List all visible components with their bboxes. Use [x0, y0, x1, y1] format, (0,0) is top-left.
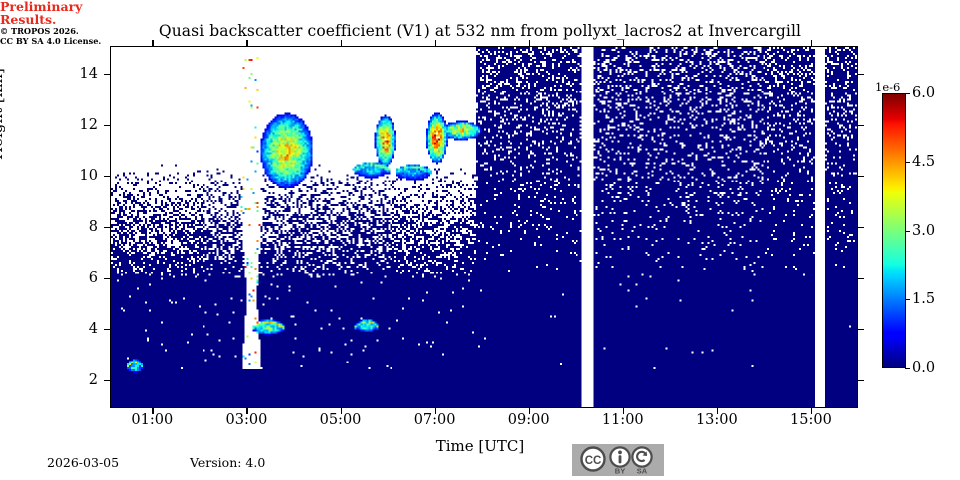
colorbar-tick-label: 6.0: [912, 85, 935, 101]
y-tick-label: 14: [58, 66, 98, 82]
y-tick-mark: [104, 227, 110, 228]
x-tick-mark-top: [152, 40, 153, 46]
y-axis-label: Height [km]: [0, 68, 6, 160]
colorbar-exponent-label: 1e-6: [875, 80, 900, 94]
x-tick-mark-top: [529, 40, 530, 46]
x-tick-mark-top: [717, 40, 718, 46]
x-tick-mark-top: [341, 40, 342, 46]
y-tick-mark: [104, 380, 110, 381]
colorbar[interactable]: [882, 93, 906, 368]
heatmap-plot-area[interactable]: [110, 46, 858, 408]
x-tick-mark-top: [435, 40, 436, 46]
x-tick-label: 07:00: [400, 412, 470, 428]
x-tick-label: 09:00: [494, 412, 564, 428]
colorbar-tick-label: 3.0: [912, 223, 935, 239]
y-tick-label: 2: [58, 372, 98, 388]
y-tick-mark: [858, 380, 864, 381]
colorbar-tick-label: 0.0: [912, 360, 935, 376]
y-tick-mark: [858, 227, 864, 228]
x-tick-mark: [152, 408, 153, 414]
x-tick-label: 11:00: [588, 412, 658, 428]
y-tick-mark: [858, 278, 864, 279]
colorbar-tick-label: 1.5: [912, 291, 935, 307]
y-tick-mark: [104, 176, 110, 177]
colorbar-tick-mark: [905, 93, 910, 94]
x-tick-mark: [435, 408, 436, 414]
y-tick-mark: [858, 74, 864, 75]
colorbar-tick-label: 4.5: [912, 154, 935, 170]
y-tick-mark: [858, 329, 864, 330]
x-tick-label: 01:00: [117, 412, 187, 428]
x-tick-mark: [341, 408, 342, 414]
x-tick-mark-top: [623, 40, 624, 46]
y-tick-label: 12: [58, 117, 98, 133]
colorbar-tick-mark: [905, 162, 910, 163]
y-tick-label: 10: [58, 168, 98, 184]
chart-title: Quasi backscatter coefficient (V1) at 53…: [0, 22, 960, 40]
x-tick-mark: [623, 408, 624, 414]
y-tick-mark: [104, 125, 110, 126]
x-tick-mark-top: [246, 40, 247, 46]
x-tick-label: 15:00: [776, 412, 846, 428]
y-tick-mark: [858, 176, 864, 177]
svg-text:BY: BY: [615, 467, 625, 476]
quicklook-heatmap-canvas: [111, 47, 857, 407]
x-tick-mark: [529, 408, 530, 414]
y-tick-mark: [858, 125, 864, 126]
colorbar-tick-mark: [905, 299, 910, 300]
x-tick-mark: [717, 408, 718, 414]
y-tick-mark: [104, 329, 110, 330]
preliminary-line-1: Preliminary: [0, 0, 960, 13]
cc-by-sa-badge-icon[interactable]: CC BY SA: [572, 444, 664, 476]
y-tick-label: 6: [58, 270, 98, 286]
figure-root: Quasi backscatter coefficient (V1) at 53…: [0, 0, 960, 480]
colorbar-gradient: [883, 94, 905, 367]
svg-text:CC: CC: [585, 455, 602, 467]
x-tick-mark: [246, 408, 247, 414]
x-tick-label: 13:00: [682, 412, 752, 428]
x-tick-mark-top: [811, 40, 812, 46]
y-tick-mark: [104, 278, 110, 279]
x-tick-label: 05:00: [306, 412, 376, 428]
colorbar-tick-mark: [905, 231, 910, 232]
figure-date: 2026-03-05: [47, 455, 119, 470]
y-tick-mark: [104, 74, 110, 75]
x-tick-mark: [811, 408, 812, 414]
svg-text:SA: SA: [637, 467, 648, 476]
colorbar-tick-mark: [905, 368, 910, 369]
y-tick-label: 8: [58, 219, 98, 235]
version-label: Version: 4.0: [190, 455, 265, 470]
x-axis-label: Time [UTC]: [0, 437, 960, 455]
x-tick-label: 03:00: [211, 412, 281, 428]
y-tick-label: 4: [58, 321, 98, 337]
